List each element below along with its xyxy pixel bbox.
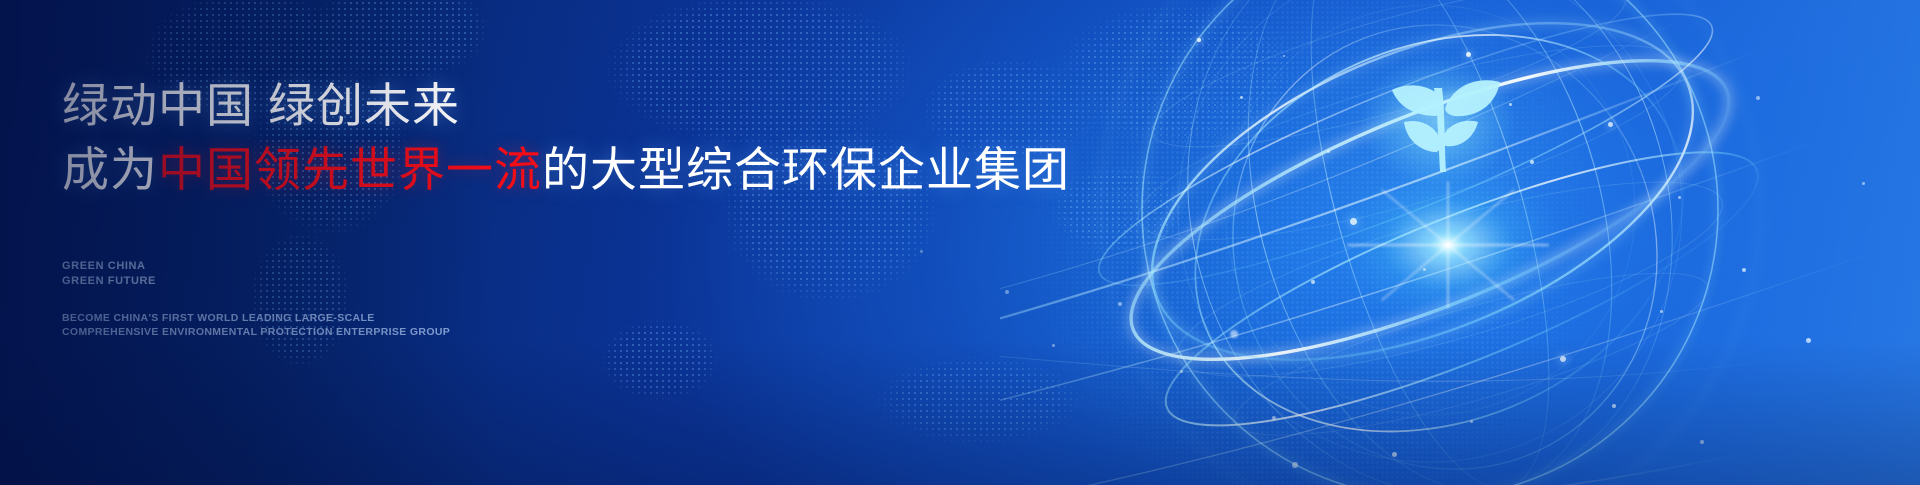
- hero-banner: 绿动中国 绿创未来 成为中国领先世界一流的大型综合环保企业集团 GREEN CH…: [0, 0, 1920, 485]
- tagline-english: GREEN CHINA GREEN FUTURE: [62, 259, 156, 289]
- tagline-english-line2: GREEN FUTURE: [62, 274, 156, 289]
- sprout-seedling-icon: [1360, 58, 1516, 186]
- headline-secondary: 成为中国领先世界一流的大型综合环保企业集团: [62, 146, 1070, 193]
- headline-secondary-accent: 中国领先世界一流: [158, 143, 542, 196]
- text-content-block: 绿动中国 绿创未来 成为中国领先世界一流的大型综合环保企业集团 GREEN CH…: [62, 0, 1062, 485]
- tagline-english-line1: GREEN CHINA: [62, 259, 156, 274]
- headline-primary: 绿动中国 绿创未来: [62, 82, 460, 129]
- description-english: BECOME CHINA'S FIRST WORLD LEADING LARGE…: [62, 311, 450, 339]
- glowing-wireframe-globe: [1000, 0, 1920, 485]
- description-english-line2: COMPREHENSIVE ENVIRONMENTAL PROTECTION E…: [62, 325, 450, 339]
- headline-secondary-suffix: 的大型综合环保企业集团: [542, 143, 1070, 196]
- description-english-line1: BECOME CHINA'S FIRST WORLD LEADING LARGE…: [62, 311, 450, 325]
- headline-secondary-prefix: 成为: [62, 143, 158, 196]
